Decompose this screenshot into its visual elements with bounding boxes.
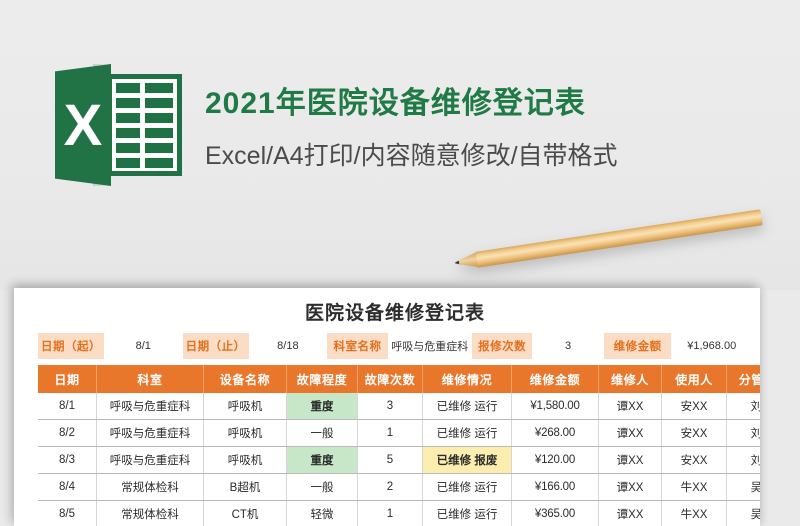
filter-value-4[interactable]: ¥1,968.00: [671, 333, 752, 359]
filter-value-1[interactable]: 8/18: [249, 333, 328, 359]
cell-日期[interactable]: 8/3: [38, 447, 97, 474]
cell-维修人[interactable]: 谭XX: [599, 393, 662, 420]
cell-故障程度[interactable]: 重度: [287, 447, 358, 474]
column-header-维修人[interactable]: 维修人: [599, 365, 662, 393]
cell-维修金额[interactable]: ¥365.00: [512, 501, 599, 526]
pencil-body: [476, 209, 763, 267]
table-row[interactable]: 8/1呼吸与危重症科呼吸机重度3已维修 运行¥1,580.00谭XX安XX刘XX: [38, 393, 760, 420]
table-row[interactable]: 8/4常规体检科B超机一般2已维修 运行¥166.00谭XX牛XX吴XX: [38, 474, 760, 501]
column-header-科室[interactable]: 科室: [97, 365, 204, 393]
cell-设备名称[interactable]: 呼吸机: [204, 447, 287, 474]
cell-维修情况[interactable]: 已维修 运行: [423, 393, 512, 420]
cell-设备名称[interactable]: 呼吸机: [204, 393, 287, 420]
column-header-故障次数[interactable]: 故障次数: [358, 365, 423, 393]
cell-使用人[interactable]: 安XX: [662, 420, 727, 447]
cell-维修情况[interactable]: 已维修 报废: [423, 447, 512, 474]
cell-科室[interactable]: 呼吸与危重症科: [97, 393, 204, 420]
cell-维修金额[interactable]: ¥268.00: [512, 420, 599, 447]
cell-分管领导[interactable]: 吴XX: [727, 501, 761, 526]
cell-维修情况[interactable]: 已维修 运行: [423, 501, 512, 526]
hero-content: X 2021年医院设备维修登记表 Excel/A4打印/内容随意修改/自带格式: [55, 60, 755, 190]
cell-分管领导[interactable]: 刘XX: [727, 393, 761, 420]
hero-text-block: 2021年医院设备维修登记表 Excel/A4打印/内容随意修改/自带格式: [205, 78, 618, 172]
cell-使用人[interactable]: 安XX: [662, 447, 727, 474]
cell-故障次数[interactable]: 1: [358, 420, 423, 447]
column-header-分管领导[interactable]: 分管领导: [727, 365, 761, 393]
page-title: 2021年医院设备维修登记表: [205, 78, 618, 122]
table-body: 8/1呼吸与危重症科呼吸机重度3已维修 运行¥1,580.00谭XX安XX刘XX…: [38, 393, 760, 526]
filter-label-1: 日期（止）: [183, 333, 249, 359]
cell-科室[interactable]: 呼吸与危重症科: [97, 447, 204, 474]
filter-label-2: 科室名称: [327, 333, 387, 359]
cell-维修人[interactable]: 谭XX: [599, 474, 662, 501]
filter-value-0[interactable]: 8/1: [104, 333, 183, 359]
cell-日期[interactable]: 8/4: [38, 474, 97, 501]
column-header-维修情况[interactable]: 维修情况: [423, 365, 512, 393]
cell-科室[interactable]: 常规体检科: [97, 501, 204, 526]
filter-summary-strip: 日期（起）8/1日期（止）8/18科室名称呼吸与危重症科报修次数3维修金额¥1,…: [38, 333, 752, 359]
column-header-维修金额[interactable]: 维修金额: [512, 365, 599, 393]
spreadsheet-card: 医院设备维修登记表 日期（起）8/1日期（止）8/18科室名称呼吸与危重症科报修…: [14, 288, 760, 526]
filter-label-3: 报修次数: [472, 333, 532, 359]
cell-使用人[interactable]: 牛XX: [662, 501, 727, 526]
cell-设备名称[interactable]: 呼吸机: [204, 420, 287, 447]
sheet-title: 医院设备维修登记表: [30, 288, 760, 331]
cell-科室[interactable]: 呼吸与危重症科: [97, 420, 204, 447]
cell-维修人[interactable]: 谭XX: [599, 420, 662, 447]
excel-grid-icon: [107, 74, 182, 176]
cell-维修情况[interactable]: 已维修 运行: [423, 420, 512, 447]
cell-故障程度[interactable]: 轻微: [287, 501, 358, 526]
cell-日期[interactable]: 8/5: [38, 501, 97, 526]
table-row[interactable]: 8/5常规体检科CT机轻微1已维修 运行¥365.00谭XX牛XX吴XX: [38, 501, 760, 526]
cell-设备名称[interactable]: CT机: [204, 501, 287, 526]
hero-banner: X 2021年医院设备维修登记表 Excel/A4打印/内容随意修改/自带格式: [0, 0, 800, 290]
table-header: 日期科室设备名称故障程度故障次数维修情况维修金额维修人使用人分管领导: [38, 365, 760, 393]
filter-value-3[interactable]: 3: [532, 333, 603, 359]
table-header-row: 日期科室设备名称故障程度故障次数维修情况维修金额维修人使用人分管领导: [38, 365, 760, 393]
column-header-使用人[interactable]: 使用人: [662, 365, 727, 393]
column-header-日期[interactable]: 日期: [38, 365, 97, 393]
cell-维修金额[interactable]: ¥120.00: [512, 447, 599, 474]
cell-维修金额[interactable]: ¥166.00: [512, 474, 599, 501]
spreadsheet-content: 医院设备维修登记表 日期（起）8/1日期（止）8/18科室名称呼吸与危重症科报修…: [30, 288, 760, 526]
cell-使用人[interactable]: 牛XX: [662, 474, 727, 501]
cell-日期[interactable]: 8/1: [38, 393, 97, 420]
page-subtitle: Excel/A4打印/内容随意修改/自带格式: [205, 136, 618, 172]
cell-设备名称[interactable]: B超机: [204, 474, 287, 501]
cell-分管领导[interactable]: 刘XX: [727, 420, 761, 447]
repair-log-table: 日期科室设备名称故障程度故障次数维修情况维修金额维修人使用人分管领导 8/1呼吸…: [38, 365, 760, 526]
cell-故障程度[interactable]: 重度: [287, 393, 358, 420]
cell-故障程度[interactable]: 一般: [287, 474, 358, 501]
column-header-设备名称[interactable]: 设备名称: [204, 365, 287, 393]
cell-故障程度[interactable]: 一般: [287, 420, 358, 447]
cell-科室[interactable]: 常规体检科: [97, 474, 204, 501]
cell-故障次数[interactable]: 2: [358, 474, 423, 501]
excel-logo-icon: X: [55, 64, 185, 186]
cell-分管领导[interactable]: 吴XX: [727, 474, 761, 501]
cell-维修金额[interactable]: ¥1,580.00: [512, 393, 599, 420]
cell-分管领导[interactable]: 刘XX: [727, 447, 761, 474]
column-header-故障程度[interactable]: 故障程度: [287, 365, 358, 393]
cell-日期[interactable]: 8/2: [38, 420, 97, 447]
table-row[interactable]: 8/2呼吸与危重症科呼吸机一般1已维修 运行¥268.00谭XX安XX刘XX: [38, 420, 760, 447]
table-row[interactable]: 8/3呼吸与危重症科呼吸机重度5已维修 报废¥120.00谭XX安XX刘XX: [38, 447, 760, 474]
filter-label-4: 维修金额: [604, 333, 672, 359]
filter-value-2[interactable]: 呼吸与危重症科: [388, 333, 472, 359]
cell-维修人[interactable]: 谭XX: [599, 447, 662, 474]
cell-维修情况[interactable]: 已维修 运行: [423, 474, 512, 501]
filter-label-0: 日期（起）: [38, 333, 104, 359]
cell-使用人[interactable]: 安XX: [662, 393, 727, 420]
cell-故障次数[interactable]: 1: [358, 501, 423, 526]
cell-故障次数[interactable]: 5: [358, 447, 423, 474]
pencil-icon: [454, 209, 763, 271]
cell-维修人[interactable]: 谭XX: [599, 501, 662, 526]
excel-x-letter: X: [55, 64, 111, 186]
cell-故障次数[interactable]: 3: [358, 393, 423, 420]
